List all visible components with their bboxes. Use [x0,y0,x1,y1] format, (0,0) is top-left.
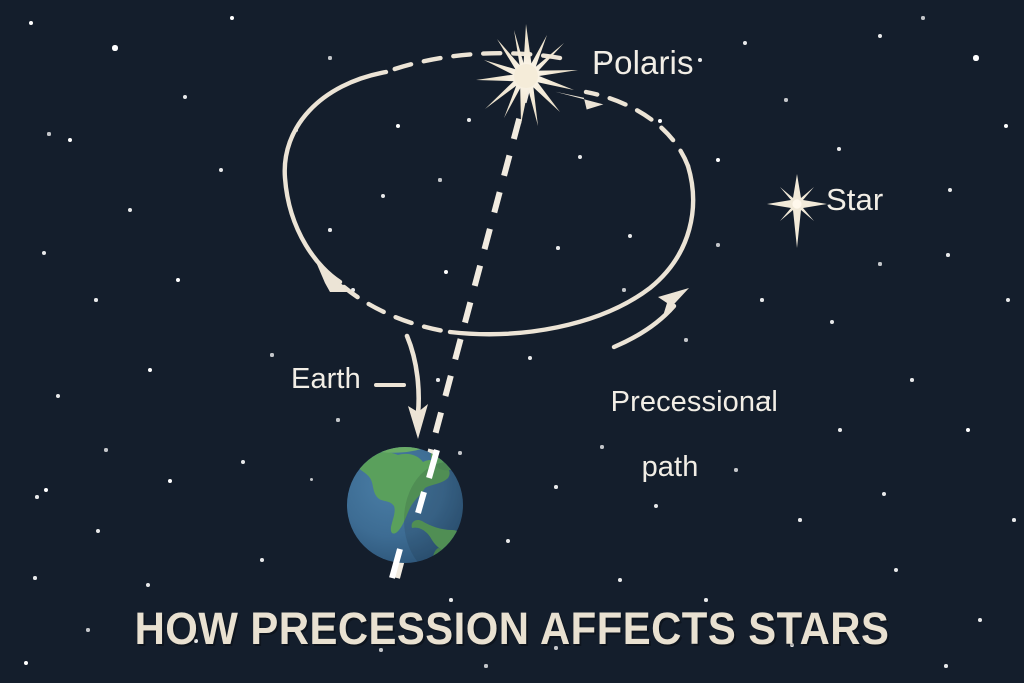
star-core [792,199,801,208]
star-label: Star [826,183,883,218]
ellipse-dashed-bottom-left [344,287,450,332]
earth-shading [404,462,492,578]
polaris-star-icon [476,24,578,126]
earth-leader-annotation [376,336,428,439]
ellipse-solid-right-arc [450,166,693,334]
earth-pointer-curve [407,336,419,414]
page-title: HOW PRECESSION AFFECTS STARS [36,603,988,655]
precession-diagram: Polaris Star Earth Precessional path HOW… [0,0,1024,683]
precession-ellipse-path [285,53,693,334]
ellipse-solid-left-arc [285,72,386,282]
precessional-path-line2: path [578,451,762,483]
precessional-path-label: Precessional path [578,354,762,549]
precessional-pointer-arrowhead [658,288,689,316]
earth-label: Earth [291,363,361,395]
star-rays [767,174,827,248]
ellipse-polaris-arrowhead [555,88,603,111]
polaris-core [514,64,538,88]
polaris-label: Polaris [592,45,694,82]
star-icon [767,174,827,248]
diagram-vector-layer [0,0,1024,683]
precessional-path-annotation [614,288,689,347]
ellipse-dashed-upper-right [586,92,688,166]
precessional-path-line1: Precessional [611,386,778,418]
